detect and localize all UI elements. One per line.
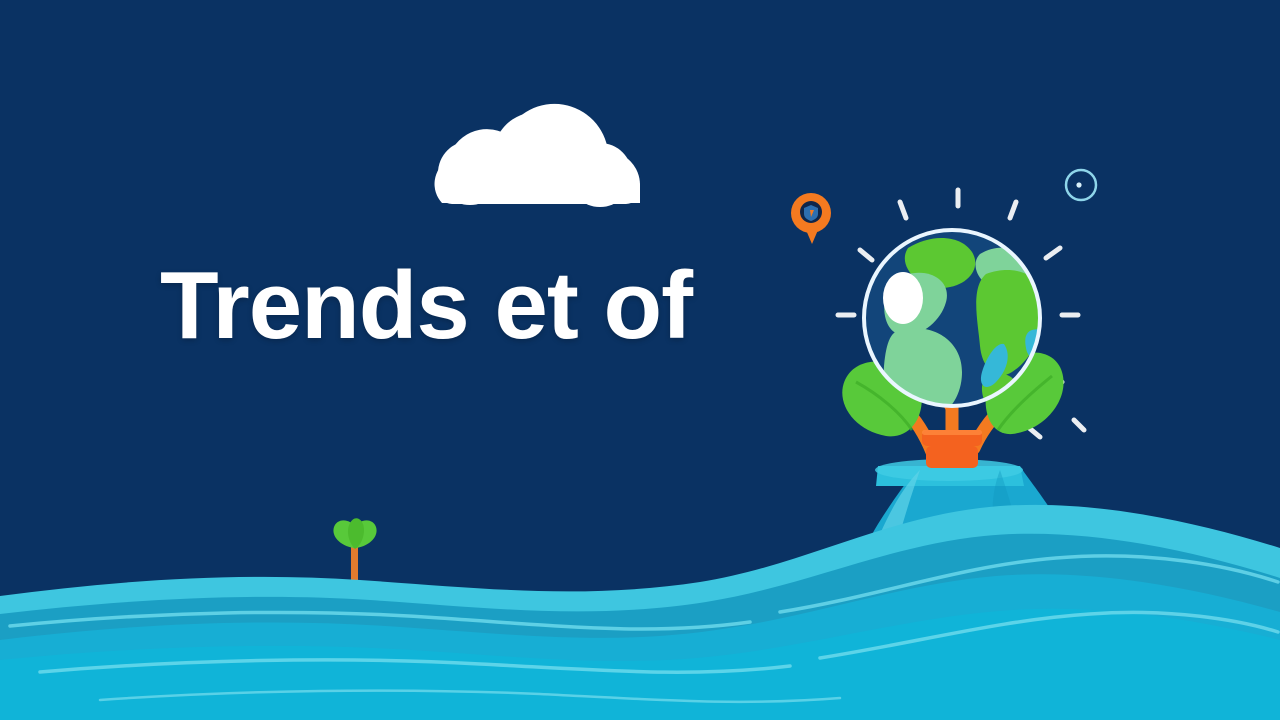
scene-canvas: Trends et of — [0, 0, 1280, 720]
ocean-waves — [0, 0, 1280, 720]
